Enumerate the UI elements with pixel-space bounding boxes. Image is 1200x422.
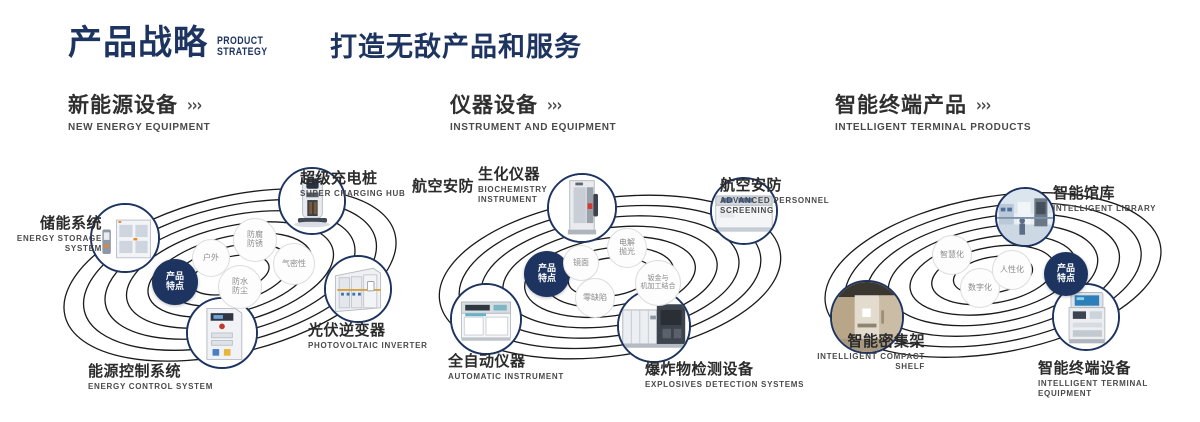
feature-bubble-mirror-finish: 镜面	[563, 245, 599, 281]
label-cn: 全自动仪器	[448, 353, 564, 370]
feature-bubble-intelligent: 智慧化	[932, 235, 972, 275]
label-cn: 智能终端设备	[1038, 360, 1200, 377]
section-header-instrument: 仪器设备 ››› INSTRUMENT AND EQUIPMENT	[450, 95, 616, 133]
core-bubble-product-features: 产品 特点	[1044, 252, 1088, 296]
core-line-1: 产品	[538, 264, 556, 274]
feature-bubble-zero-defect: 零缺陷	[575, 278, 615, 318]
library-interior-photo	[997, 189, 1053, 245]
core-line-1: 产品	[1057, 264, 1075, 274]
chevron-right-icon: ›››	[976, 97, 990, 115]
label-energy-control-system: 能源控制系统 ENERGY CONTROL SYSTEM	[88, 363, 213, 392]
label-en: INTELLIGENT COMPACT SHELF	[800, 352, 925, 372]
label-cn: 光伏逆变器	[308, 322, 428, 339]
label-biochemistry-instrument: 生化仪器 BIOCHEMISTRY INSTRUMENT	[478, 166, 547, 205]
label-intelligent-compact-shelf: 智能密集架 INTELLIGENT COMPACT SHELF	[800, 333, 925, 372]
feature-bubble-electropolishing: 电解 抛光	[607, 228, 647, 268]
core-line-2: 特点	[166, 282, 184, 292]
label-intelligent-terminal-equipment: 智能终端设备 INTELLIGENT TERMINAL EQUIPMENT	[1038, 360, 1200, 399]
node-photovoltaic-inverter[interactable]	[324, 255, 392, 323]
label-en: INTELLIGENT LIBRARY	[1053, 204, 1156, 214]
core-line-2: 特点	[538, 274, 556, 284]
label-en: EXPLOSIVES DETECTION SYSTEMS	[645, 380, 804, 390]
pv-inverter-photo	[326, 257, 390, 321]
control-cabinet-photo	[188, 299, 256, 367]
label-en: ENERGY CONTROL SYSTEM	[88, 382, 213, 392]
label-en: ENERGY STORAGE SYSTEM	[0, 234, 102, 254]
core-line-1: 产品	[166, 272, 184, 282]
label-energy-storage-system: 储能系统 ENERGY STORAGE SYSTEM	[0, 215, 102, 254]
label-cn: 航空安防	[412, 178, 474, 195]
label-en: PHOTOVOLTAIC INVERTER	[308, 341, 428, 351]
section-title-cn: 仪器设备	[450, 95, 538, 116]
feature-bubble-airtight: 气密性	[273, 243, 315, 285]
poster-canvas: 产品战略 PRODUCT STRATEGY 打造无敌产品和服务 新能源设备 ››…	[0, 0, 1200, 422]
label-cn: 智能密集架	[800, 333, 925, 350]
feature-bubble-sheetmetal-machining: 钣金与 机加工结合	[635, 260, 681, 306]
label-en: SUPER CHARGING HUB	[300, 189, 406, 199]
label-aviation-security-left: 航空安防	[412, 178, 474, 195]
label-explosives-detection-systems: 爆炸物检测设备 EXPLOSIVES DETECTION SYSTEMS	[645, 361, 804, 390]
label-cn: 超级充电桩	[300, 170, 406, 187]
label-cn: 生化仪器	[478, 166, 547, 183]
section-title-cn: 新能源设备	[68, 95, 178, 116]
label-automatic-instrument: 全自动仪器 AUTOMATIC INSTRUMENT	[448, 353, 564, 382]
label-cn: 储能系统	[0, 215, 102, 232]
label-cn: 智能馆库	[1053, 185, 1156, 202]
automatic-instrument-photo	[452, 285, 520, 353]
node-biochemistry-instrument[interactable]	[547, 173, 617, 243]
node-intelligent-library[interactable]	[995, 187, 1055, 247]
feature-bubble-waterproof: 防水 防尘	[218, 265, 262, 309]
core-line-2: 特点	[1057, 274, 1075, 284]
section-title-en: INTELLIGENT TERMINAL PRODUCTS	[835, 122, 1031, 133]
chevron-right-icon: ›››	[187, 97, 201, 115]
brand-title-en: PRODUCT STRATEGY	[217, 36, 267, 58]
label-super-charging-hub: 超级充电桩 SUPER CHARGING HUB	[300, 170, 406, 199]
node-automatic-instrument[interactable]	[450, 283, 522, 355]
section-header-new-energy: 新能源设备 ››› NEW ENERGY EQUIPMENT	[68, 95, 210, 133]
label-en: BIOCHEMISTRY INSTRUMENT	[478, 185, 547, 205]
label-en: AUTOMATIC INSTRUMENT	[448, 372, 564, 382]
biochemistry-instrument-photo	[549, 175, 615, 241]
core-bubble-product-features: 产品 特点	[152, 259, 198, 305]
section-title-en: NEW ENERGY EQUIPMENT	[68, 122, 210, 133]
headline: 打造无敌产品和服务	[330, 34, 582, 62]
label-photovoltaic-inverter: 光伏逆变器 PHOTOVOLTAIC INVERTER	[308, 322, 428, 351]
node-energy-control-system[interactable]	[186, 297, 258, 369]
label-en: INTELLIGENT TERMINAL EQUIPMENT	[1038, 379, 1200, 399]
label-cn: 能源控制系统	[88, 363, 213, 380]
brand-block: 产品战略 PRODUCT STRATEGY	[68, 26, 280, 60]
section-header-intelligent: 智能终端产品 ››› INTELLIGENT TERMINAL PRODUCTS	[835, 95, 1031, 133]
chevron-right-icon: ›››	[547, 97, 561, 115]
label-intelligent-library: 智能馆库 INTELLIGENT LIBRARY	[1053, 185, 1156, 214]
label-cn: 爆炸物检测设备	[645, 361, 804, 378]
section-title-cn: 智能终端产品	[835, 95, 967, 116]
brand-title-cn: 产品战略	[68, 26, 208, 60]
section-title-en: INSTRUMENT AND EQUIPMENT	[450, 122, 616, 133]
feature-bubble-humanized: 人性化	[992, 250, 1032, 290]
feature-bubble-anticorrosion: 防腐 防锈	[233, 218, 277, 262]
